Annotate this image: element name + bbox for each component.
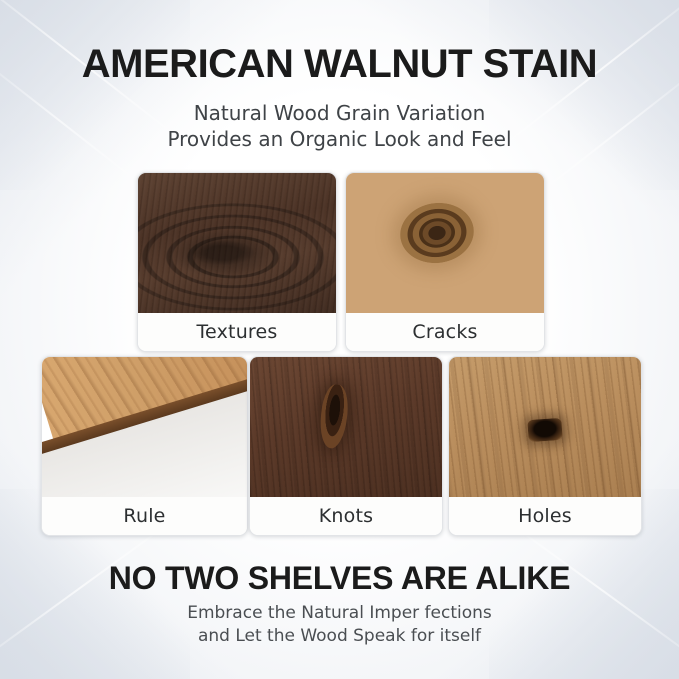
feature-card-holes: Holes: [448, 356, 642, 536]
feature-card-rule: Rule: [41, 356, 248, 536]
corner-shade-top-right: [489, 0, 679, 190]
feature-card-caption: Cracks: [346, 313, 544, 351]
hole-detail: [527, 418, 562, 442]
feature-card-caption: Holes: [449, 497, 641, 535]
wood-texture-swatch: [138, 173, 336, 313]
wood-knot-swatch: [250, 357, 442, 497]
feature-card-caption: Rule: [42, 497, 247, 535]
footer-headline: NO TWO SHELVES ARE ALIKE: [0, 560, 679, 597]
subtitle-line-2: Provides an Organic Look and Feel: [0, 126, 679, 152]
page-title: AMERICAN WALNUT STAIN: [0, 44, 679, 84]
corner-shade-top-left: [0, 0, 190, 190]
wood-edge-swatch: [42, 357, 247, 497]
subtitle-line-1: Natural Wood Grain Variation: [0, 100, 679, 126]
feature-card-knots: Knots: [249, 356, 443, 536]
feature-card-caption: Knots: [250, 497, 442, 535]
feature-card-textures: Textures: [137, 172, 337, 352]
footer-subtitle-line-2: and Let the Wood Speak for itself: [0, 625, 679, 648]
footer-subtitle: Embrace the Natural Imper fections and L…: [0, 602, 679, 648]
wood-knot-swatch: [346, 173, 544, 313]
promo-graphic: AMERICAN WALNUT STAIN Natural Wood Grain…: [0, 0, 679, 679]
feature-card-cracks: Cracks: [345, 172, 545, 352]
wood-hole-swatch: [449, 357, 641, 497]
feature-card-caption: Textures: [138, 313, 336, 351]
footer-subtitle-line-1: Embrace the Natural Imper fections: [0, 602, 679, 625]
subtitle: Natural Wood Grain Variation Provides an…: [0, 100, 679, 152]
